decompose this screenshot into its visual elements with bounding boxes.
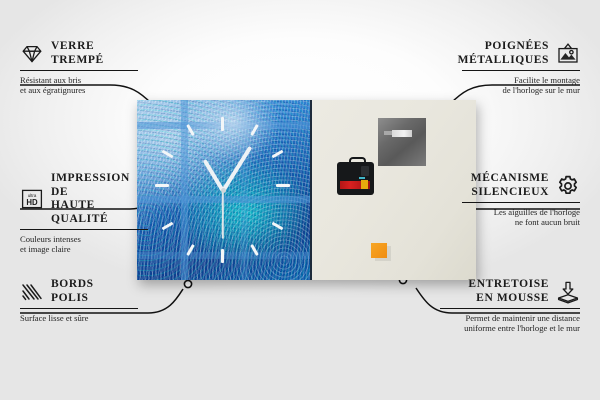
clock-tick <box>155 184 169 187</box>
clock-tick <box>276 184 290 187</box>
clock-front-panel <box>137 100 310 280</box>
feature-rule <box>462 70 580 71</box>
clock-tick <box>221 249 224 263</box>
clock-mechanism <box>337 157 374 195</box>
ultra-hd-icon: ultra HD <box>20 187 44 211</box>
plate-slot <box>392 130 412 137</box>
highlight-glow <box>185 100 280 163</box>
feature-entretoise-en-mousse: ENTRETOISE EN MOUSSE Permet de maintenir… <box>440 278 580 334</box>
feature-rule <box>20 308 138 309</box>
svg-text:HD: HD <box>26 198 38 207</box>
feature-title: POIGNÉES MÉTALLIQUES <box>458 40 549 67</box>
feature-title: MÉCANISME SILENCIEUX <box>471 172 549 199</box>
feature-title: BORDS POLIS <box>51 278 94 305</box>
metal-hanger-plate <box>378 118 426 166</box>
product-image <box>137 100 474 280</box>
feature-rule <box>20 229 148 230</box>
feature-subtitle: Permet de maintenir une distance uniform… <box>440 313 580 334</box>
connector-dot-bords <box>184 280 191 287</box>
feature-title: ENTRETOISE EN MOUSSE <box>468 278 549 305</box>
feature-subtitle: Surface lisse et sûre <box>20 313 138 324</box>
feature-subtitle: Facilite le montage de l'horloge sur le … <box>462 75 580 96</box>
feature-rule <box>20 70 138 71</box>
mechanism-dial <box>361 166 369 176</box>
infographic-canvas: VERRE TREMPÉ Résistant aux bris et aux é… <box>0 0 600 400</box>
polished-edges-icon <box>20 280 44 304</box>
feature-poignees-metalliques: POIGNÉES MÉTALLIQUES Facilite le montage… <box>462 40 580 96</box>
feature-title: VERRE TREMPÉ <box>51 40 104 67</box>
feature-subtitle: Les aiguilles de l'horloge ne font aucun… <box>462 207 580 228</box>
clock-tick <box>221 117 224 131</box>
feature-subtitle: Résistant aux bris et aux égratignures <box>20 75 138 96</box>
feature-title: IMPRESSION DE HAUTE QUALITÉ <box>51 172 148 226</box>
feature-rule <box>440 308 580 309</box>
battery <box>340 181 370 189</box>
clock-back-panel <box>310 100 476 280</box>
foam-spacer <box>371 243 387 258</box>
feature-rule <box>462 202 580 203</box>
feature-impression-haute-qualite: ultra HD IMPRESSION DE HAUTE QUALITÉ Cou… <box>20 172 148 255</box>
picture-frame-hanger-icon <box>556 42 580 66</box>
gear-icon <box>556 174 580 198</box>
feature-subtitle: Couleurs intenses et image claire <box>20 234 148 255</box>
feature-mecanisme-silencieux: MÉCANISME SILENCIEUX Les aiguilles de l'… <box>462 172 580 228</box>
feature-bords-polis: BORDS POLIS Surface lisse et sûre <box>20 278 138 323</box>
mechanism-label <box>359 177 365 179</box>
clock-center-cap <box>221 188 226 193</box>
feature-verre-trempe: VERRE TREMPÉ Résistant aux bris et aux é… <box>20 40 138 96</box>
clock-second-hand <box>222 191 224 239</box>
diamond-icon <box>20 42 44 66</box>
battery-terminal <box>361 180 368 189</box>
press-down-arrow-icon <box>556 280 580 304</box>
